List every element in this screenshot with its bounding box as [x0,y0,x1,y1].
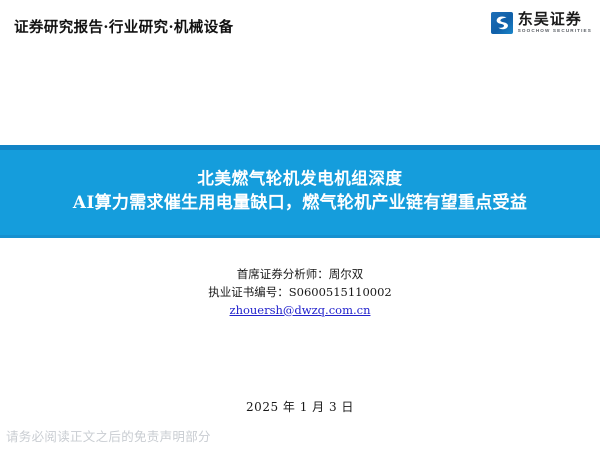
brand-logo-text: 东吴证券 SOOCHOW SECURITIES [518,12,592,34]
report-title-line-1: 北美燃气轮机发电机组深度 [197,168,402,189]
banner-bottom-stripe [0,235,600,238]
brand-name-en: SOOCHOW SECURITIES [518,29,592,34]
analyst-email-link[interactable]: zhouersh@dwzq.com.cn [0,302,600,320]
page-header: 证券研究报告·行业研究·机械设备 东吴证券 SOOCHOW SECURITIES [0,0,600,56]
lead-analyst-line: 首席证券分析师：周尔双 [0,266,600,284]
title-banner: 北美燃气轮机发电机组深度 AI算力需求催生用电量缺口，燃气轮机产业链有望重点受益 [0,145,600,238]
banner-top-stripe [0,145,600,150]
analyst-info-block: 首席证券分析师：周尔双 执业证书编号：S0600515110002 zhouer… [0,266,600,319]
report-title-line-2: AI算力需求催生用电量缺口，燃气轮机产业链有望重点受益 [73,193,527,215]
publication-date: 2025 年 1 月 3 日 [0,398,600,415]
breadcrumb: 证券研究报告·行业研究·机械设备 [14,16,234,37]
license-number-line: 执业证书编号：S0600515110002 [0,284,600,302]
brand-name-cn: 东吴证券 [518,12,592,27]
brand-logo: 东吴证券 SOOCHOW SECURITIES [491,12,592,34]
disclaimer-footer: 请务必阅读正文之后的免责声明部分 [6,426,211,445]
soochow-wave-logo-icon [491,12,513,34]
